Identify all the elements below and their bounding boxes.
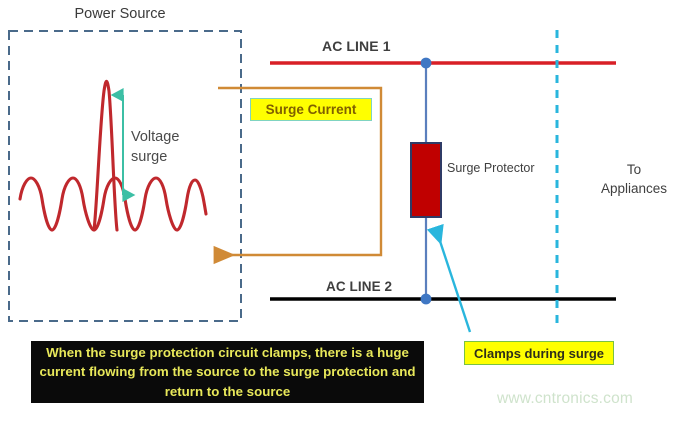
voltage-surge-label-line1: Voltage xyxy=(131,127,201,147)
diagram-canvas: Power Source AC LINE 1 AC LINE 2 Voltage… xyxy=(0,0,680,424)
junction-dot-top xyxy=(421,58,432,69)
voltage-surge-label: Voltage surge xyxy=(131,127,201,167)
site-watermark: www.cntronics.com xyxy=(497,390,633,408)
power-source-boundary-box xyxy=(9,31,241,321)
explanation-caption: When the surge protection circuit clamps… xyxy=(31,341,424,403)
power-source-title: Power Source xyxy=(0,6,240,22)
to-appliances-line2: Appliances xyxy=(592,179,676,198)
voltage-surge-label-line2: surge xyxy=(131,147,201,167)
surge-protector-block[interactable] xyxy=(411,143,441,217)
ac-line-2-label: AC LINE 2 xyxy=(326,279,392,294)
voltage-surge-spike xyxy=(94,81,117,230)
clamps-pointer-arrow xyxy=(436,229,470,332)
to-appliances-label: To Appliances xyxy=(592,160,676,198)
junction-dot-bottom xyxy=(421,294,432,305)
clamps-during-surge-callout: Clamps during surge xyxy=(464,341,614,365)
surge-protector-label: Surge Protector xyxy=(447,161,535,175)
to-appliances-line1: To xyxy=(592,160,676,179)
ac-line-1-label: AC LINE 1 xyxy=(322,38,391,54)
surge-current-callout: Surge Current xyxy=(250,98,372,121)
